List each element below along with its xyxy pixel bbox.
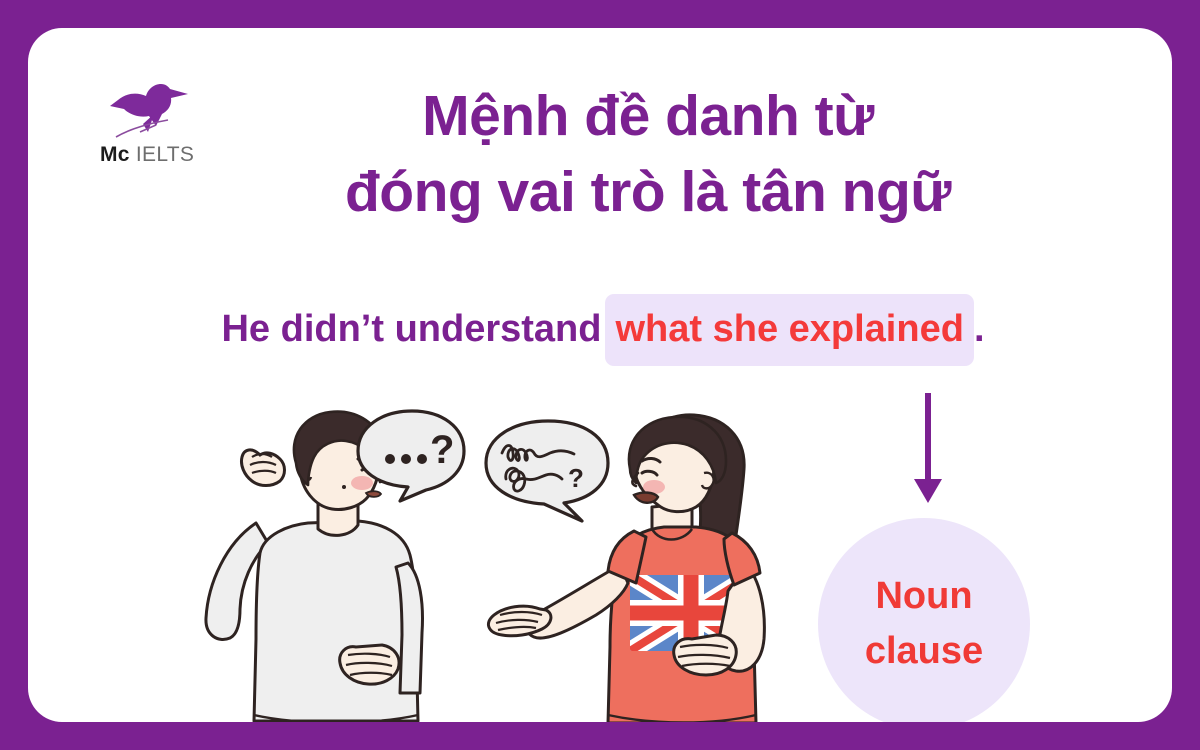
infographic-frame: Mc IELTS Mệnh đề danh từ đóng vai trò là… xyxy=(0,0,1200,750)
noun-badge-line-1: Noun xyxy=(875,569,972,624)
bubble-dot xyxy=(401,454,411,464)
bubble-dot xyxy=(417,454,427,464)
brand-wordmark: Mc IELTS xyxy=(100,143,194,167)
brand-name-mc: Mc xyxy=(100,143,130,166)
content-panel: Mc IELTS Mệnh đề danh từ đóng vai trò là… xyxy=(28,28,1172,722)
bubble-question-mark: ? xyxy=(568,463,584,493)
two-people-conversation-illustration: ? ? xyxy=(168,403,788,722)
brand-name-ielts: IELTS xyxy=(136,143,194,166)
sentence-period: . xyxy=(974,308,985,350)
speech-bubble-scribble: ? xyxy=(486,421,608,521)
sentence-main-clause: He didn’t understand xyxy=(221,308,601,350)
example-sentence: He didn’t understandwhat she explained. xyxy=(88,310,1118,348)
hummingbird-icon xyxy=(104,80,196,142)
noun-badge-line-2: clause xyxy=(865,624,983,679)
bubble-question-mark: ? xyxy=(430,428,454,472)
brand-logo: Mc IELTS xyxy=(98,80,208,175)
arrow-down-icon xyxy=(908,391,948,507)
title-line-1: Mệnh đề danh từ xyxy=(198,78,1098,154)
page-title: Mệnh đề danh từ đóng vai trò là tân ngữ xyxy=(198,78,1098,231)
sentence-noun-clause-highlight: what she explained xyxy=(605,294,973,366)
bubble-dot xyxy=(385,454,395,464)
noun-clause-badge: Noun clause xyxy=(818,518,1030,722)
title-line-2: đóng vai trò là tân ngữ xyxy=(198,154,1098,230)
